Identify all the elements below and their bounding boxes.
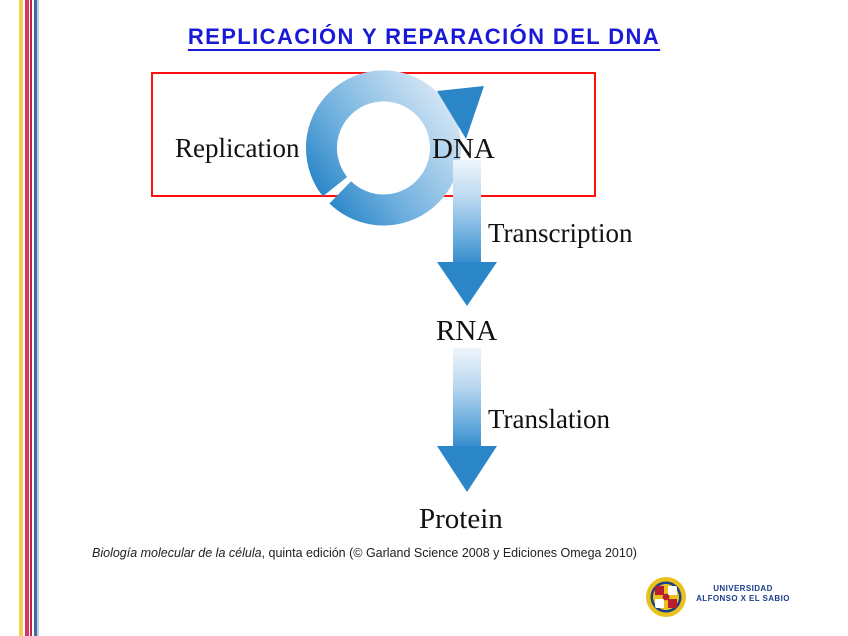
process-label-transcription: Transcription: [488, 218, 633, 249]
node-label-protein: Protein: [419, 503, 503, 536]
logo-line-2: ALFONSO X EL SABIO: [693, 594, 793, 604]
university-logo: UNIVERSIDAD ALFONSO X EL SABIO: [645, 576, 805, 622]
slide-title: REPLICACIÓN Y REPARACIÓN DEL DNA: [0, 24, 848, 50]
process-label-translation: Translation: [488, 404, 610, 435]
process-label-replication: Replication: [175, 133, 299, 164]
logo-line-1: UNIVERSIDAD: [693, 584, 793, 594]
stripe-gray: [37, 0, 39, 636]
source-caption: Biología molecular de la célula, quinta …: [92, 546, 792, 560]
caption-book-title: Biología molecular de la célula: [92, 546, 262, 560]
node-label-rna: RNA: [436, 315, 497, 348]
node-label-dna: DNA: [432, 133, 495, 166]
university-crest-icon: [645, 576, 687, 618]
university-logo-text: UNIVERSIDAD ALFONSO X EL SABIO: [693, 584, 793, 604]
decorative-stripe-band: [0, 0, 34, 636]
caption-rest: , quinta edición (© Garland Science 2008…: [262, 546, 637, 560]
